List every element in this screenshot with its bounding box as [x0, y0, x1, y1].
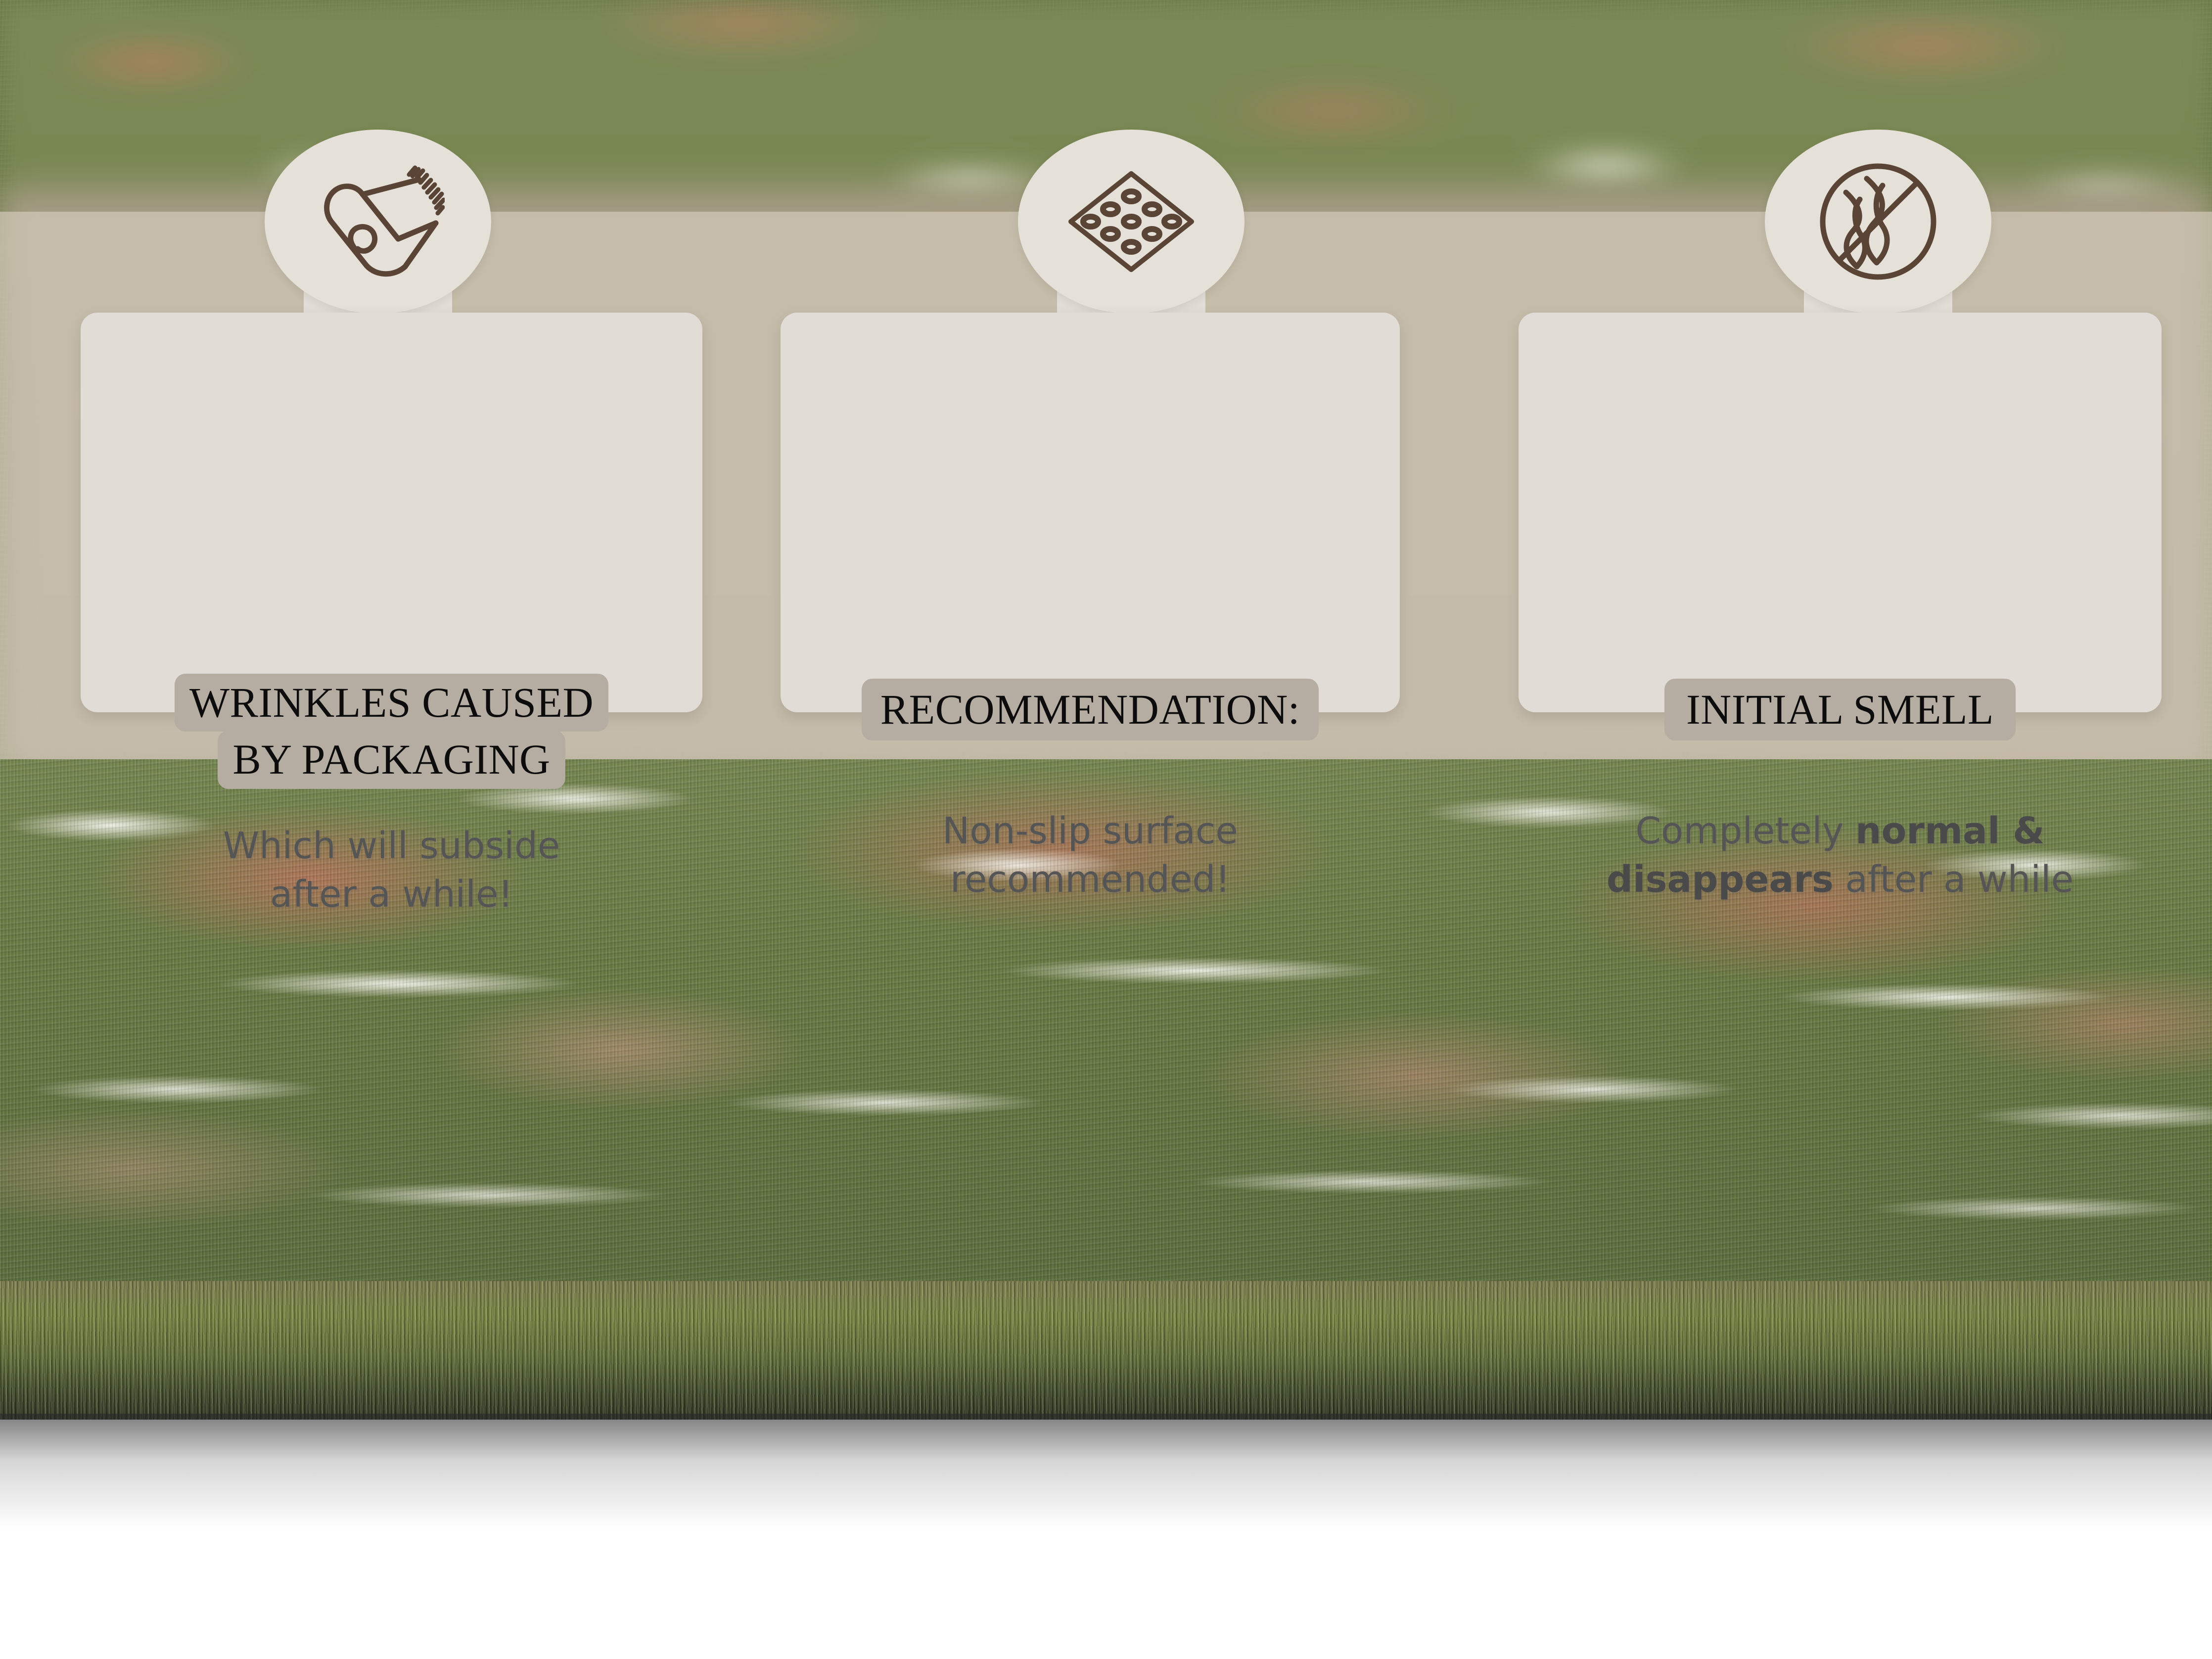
card2-body-text: Non-slip surface recommended!: [781, 807, 1400, 904]
rolled-rug-icon: [311, 160, 445, 283]
card3-title-block: INITIAL SMELL: [1519, 679, 2162, 740]
rug-drop-shadow: [0, 1414, 2212, 1562]
icon-badge-no-smell: [1765, 130, 1991, 314]
card1-title-line-2: BY PACKAGING: [218, 731, 565, 788]
info-card-group: WRINKLES CAUSED BY PACKAGING Which will …: [0, 0, 2212, 791]
card1-title-block: WRINKLES CAUSED BY PACKAGING: [81, 674, 702, 789]
card1-body-line-1: Which will subside: [106, 822, 677, 871]
rug-pile-edge: [0, 1281, 2212, 1420]
card1-body-text: Which will subside after a while!: [81, 822, 702, 919]
card2-title-line-1: RECOMMENDATION:: [862, 679, 1319, 740]
card3-body-line-1: Completely normal &: [1544, 807, 2136, 856]
promo-infographic: WRINKLES CAUSED BY PACKAGING Which will …: [0, 0, 2212, 1659]
icon-badge-rolled-rug: [265, 130, 491, 314]
info-card-recommendation: RECOMMENDATION: Non-slip surface recomme…: [781, 313, 1400, 712]
info-card-initial-smell: INITIAL SMELL Completely normal & disapp…: [1519, 313, 2162, 712]
card3-body-text: Completely normal & disappears after a w…: [1519, 807, 2162, 904]
card3-body-line-2: disappears after a while: [1544, 856, 2136, 904]
no-smell-icon: [1813, 157, 1943, 286]
info-card-wrinkles: WRINKLES CAUSED BY PACKAGING Which will …: [81, 313, 702, 712]
card1-body-line-2: after a while!: [106, 871, 677, 919]
card3-title-line-1: INITIAL SMELL: [1664, 679, 2016, 740]
card1-title-line-1: WRINKLES CAUSED: [175, 674, 608, 732]
icon-badge-non-slip: [1018, 130, 1244, 314]
card2-title-block: RECOMMENDATION:: [781, 679, 1400, 740]
card2-body-line-1: Non-slip surface: [806, 807, 1374, 856]
non-slip-diamond-icon: [1065, 167, 1198, 276]
card2-body-line-2: recommended!: [806, 856, 1374, 904]
